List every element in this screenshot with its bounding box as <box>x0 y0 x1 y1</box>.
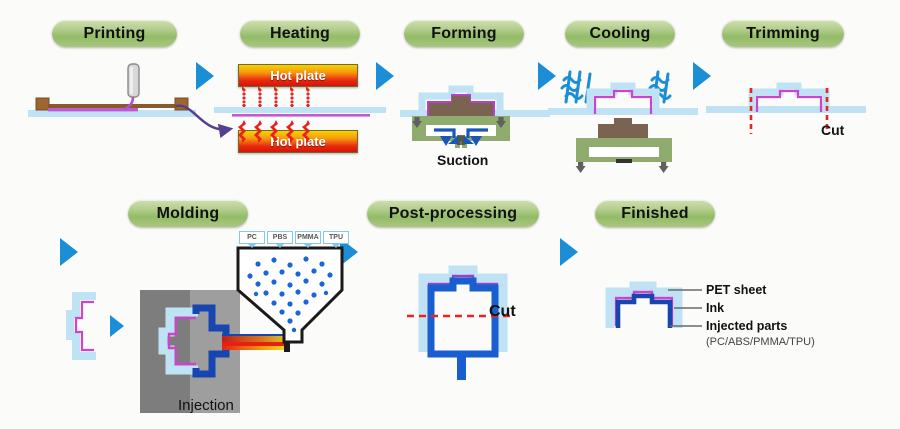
stage-pill-heating[interactable]: Heating <box>240 20 360 47</box>
legend-item-pet-sheet: PET sheet <box>706 283 766 297</box>
flow-arrow-part-to-mold <box>110 315 124 337</box>
suction-label-wrap: Suction <box>437 152 488 168</box>
forming-illustration <box>400 78 550 153</box>
material-tag-pc: PC <box>239 231 265 244</box>
material-tag-pbs: PBS <box>267 231 293 244</box>
legend-label-ink: Ink <box>706 301 724 315</box>
trimmed-part-icon <box>66 292 108 364</box>
material-tag-pmma-label: PMMA <box>297 234 318 241</box>
material-tag-pbs-label: PBS <box>273 234 287 241</box>
stage-label-heating: Heating <box>270 25 330 43</box>
post-cut-label-wrap: Cut <box>489 303 516 321</box>
stage-label-printing: Printing <box>83 25 145 43</box>
trim-cut-label-wrap: Cut <box>821 122 844 138</box>
stage-pill-trimming[interactable]: Trimming <box>722 20 844 47</box>
heating-illustration <box>210 84 390 134</box>
injection-label-wrap: Injection <box>178 397 234 414</box>
stage-pill-finished[interactable]: Finished <box>595 200 715 227</box>
stage-label-molding: Molding <box>157 205 220 223</box>
material-tag-pmma: PMMA <box>295 231 321 244</box>
stage-pill-molding[interactable]: Molding <box>128 200 248 227</box>
legend-label-injected-parts: Injected parts <box>706 319 787 333</box>
legend-sub-note-text: (PC/ABS/PMMA/TPU) <box>706 336 815 348</box>
post-cut-label: Cut <box>489 303 516 320</box>
legend-item-injected-parts: Injected parts <box>706 319 787 333</box>
flow-arrow-trimming-to-molding <box>60 238 78 266</box>
stage-label-trimming: Trimming <box>746 25 820 43</box>
flow-arrow-post-to-finished <box>560 238 578 266</box>
trim-cut-label: Cut <box>821 122 844 138</box>
hot-plate-top-label: Hot plate <box>270 68 326 83</box>
legend-label-pet-sheet: PET sheet <box>706 283 766 297</box>
stage-label-forming: Forming <box>431 25 496 43</box>
legend-item-ink: Ink <box>706 301 724 315</box>
stage-label-post-processing: Post-processing <box>389 205 517 223</box>
stage-pill-printing[interactable]: Printing <box>52 20 177 47</box>
stage-pill-cooling[interactable]: Cooling <box>565 20 675 47</box>
stage-label-cooling: Cooling <box>590 25 651 43</box>
legend-sub-note: (PC/ABS/PMMA/TPU) <box>706 336 815 348</box>
process-diagram: Printing Heating Forming Cooling Trimmin… <box>0 0 900 429</box>
material-hopper <box>236 246 348 346</box>
stage-pill-forming[interactable]: Forming <box>404 20 524 47</box>
material-tag-tpu: TPU <box>323 231 349 244</box>
cooling-illustration <box>548 58 698 173</box>
stage-pill-post-processing[interactable]: Post-processing <box>367 200 539 227</box>
suction-label: Suction <box>437 152 488 168</box>
injection-label: Injection <box>178 397 234 414</box>
legend-leader-lines <box>668 284 708 340</box>
material-tag-tpu-label: TPU <box>329 234 343 241</box>
hot-plate-bottom-label: Hot plate <box>270 134 326 149</box>
material-tag-pc-label: PC <box>247 234 257 241</box>
stage-label-finished: Finished <box>621 205 688 223</box>
